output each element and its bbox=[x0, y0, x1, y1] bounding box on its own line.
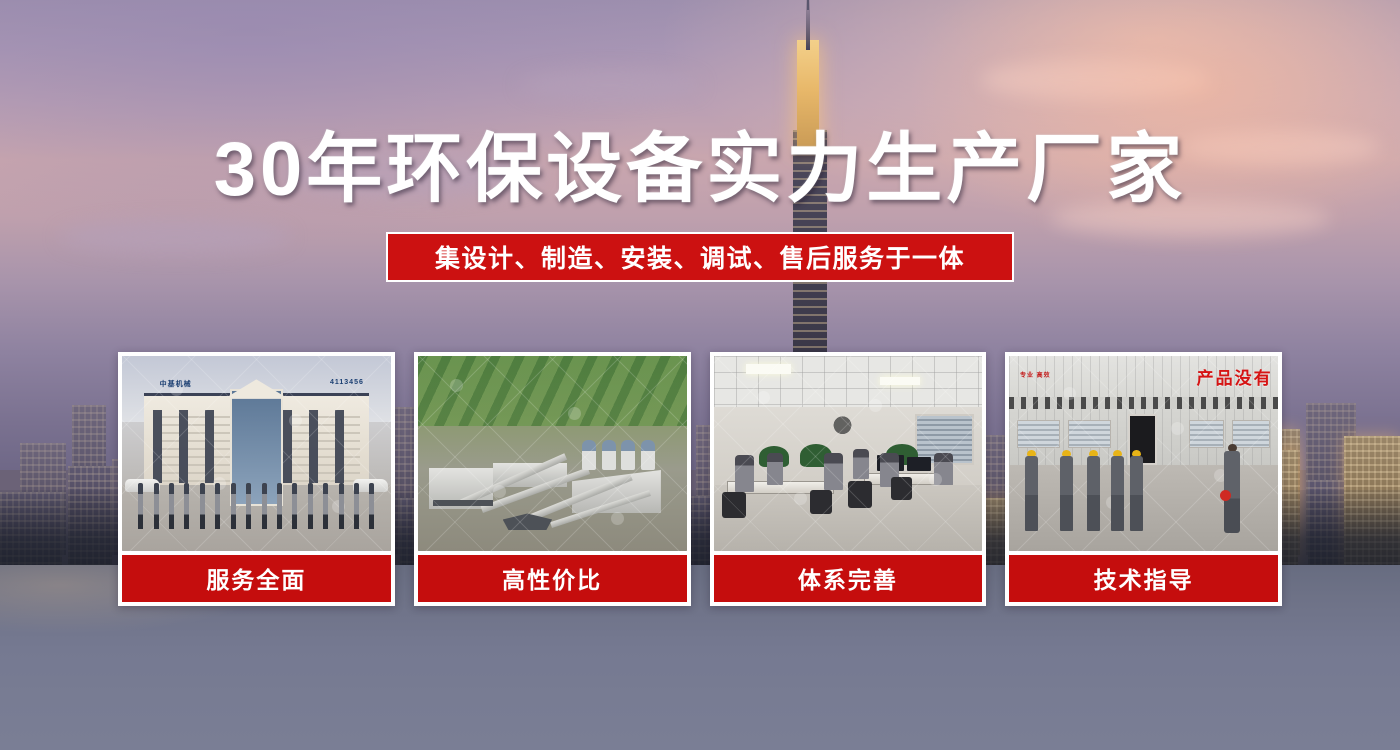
feature-card[interactable]: 中基机械 4113456 服务全面 bbox=[118, 352, 395, 606]
card-label: 体系完善 bbox=[714, 555, 983, 602]
factory-subslogan-text: 专业 高效 bbox=[1020, 372, 1051, 381]
page-title: 30年环保设备实力生产厂家 bbox=[0, 132, 1400, 208]
subtitle-banner: 集设计、制造、安装、调试、售后服务于一体 bbox=[386, 232, 1014, 282]
card-label: 服务全面 bbox=[122, 555, 391, 602]
feature-card[interactable]: 高性价比 bbox=[414, 352, 691, 606]
feature-card[interactable]: 体系完善 bbox=[710, 352, 987, 606]
building-sign-text: 中基机械 bbox=[160, 379, 192, 389]
card-photo-industrial-plant bbox=[418, 356, 687, 551]
feature-card[interactable]: 产品没有 专业 高效 bbox=[1005, 352, 1282, 606]
subtitle-text: 集设计、制造、安装、调试、售后服务于一体 bbox=[435, 239, 965, 275]
card-label: 高性价比 bbox=[418, 555, 687, 602]
card-photo-office-building: 中基机械 4113456 bbox=[122, 356, 391, 551]
feature-card-row: 中基机械 4113456 服务全面 bbox=[118, 352, 1282, 606]
tower-mast bbox=[807, 0, 809, 10]
card-label: 技术指导 bbox=[1009, 555, 1278, 602]
factory-slogan-text: 产品没有 bbox=[1197, 364, 1273, 389]
promo-banner: 30年环保设备实力生产厂家 集设计、制造、安装、调试、售后服务于一体 中基机械 … bbox=[0, 0, 1400, 750]
card-photo-factory-workers: 产品没有 专业 高效 bbox=[1009, 356, 1278, 551]
building-phone-text: 4113456 bbox=[330, 379, 364, 386]
card-photo-office-interior bbox=[714, 356, 983, 551]
